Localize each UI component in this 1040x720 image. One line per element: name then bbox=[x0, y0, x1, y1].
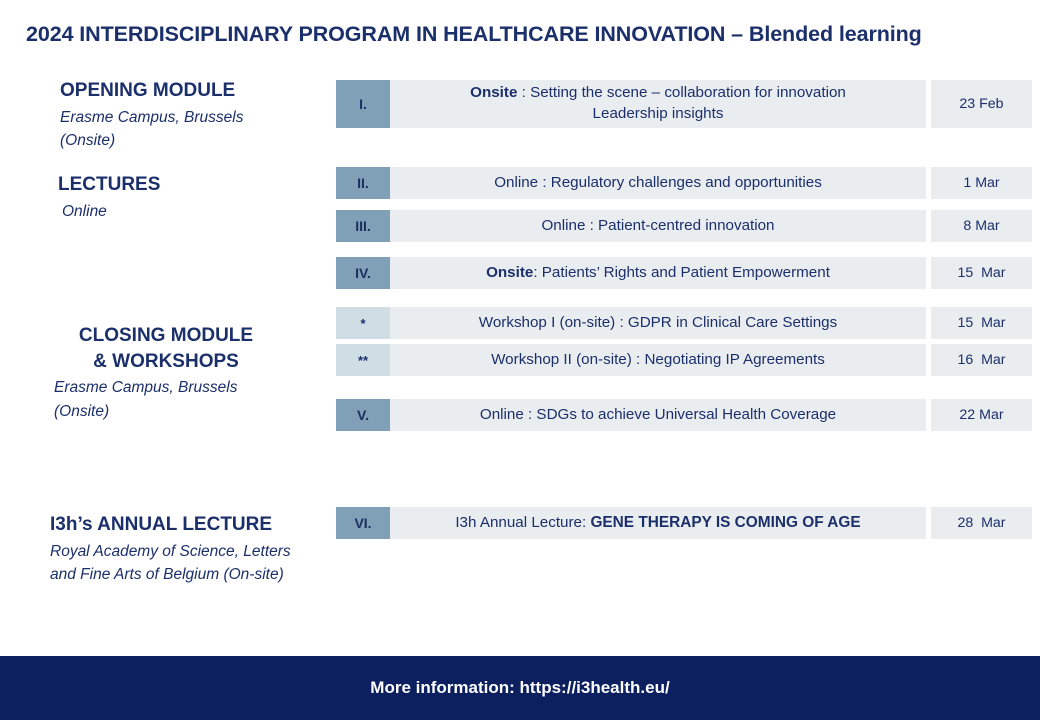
row-number-badge: * bbox=[336, 307, 390, 339]
row-title: Online : Patient-centred innovation bbox=[390, 210, 926, 242]
row-number-badge: V. bbox=[336, 399, 390, 431]
row-date: 1 Mar bbox=[931, 167, 1032, 199]
row-title-text: Online : SDGs to achieve Universal Healt… bbox=[480, 405, 836, 426]
row-title-second-line: Leadership insights bbox=[593, 105, 724, 122]
section-subtitle-line1: Royal Academy of Science, Letters bbox=[50, 540, 350, 563]
row-number-badge: III. bbox=[336, 210, 390, 242]
section-heading: OPENING MODULE bbox=[60, 78, 243, 104]
row-title-text: I3h Annual Lecture: bbox=[455, 514, 590, 531]
row-date: 15 Mar bbox=[931, 307, 1032, 339]
section-heading: LECTURES bbox=[58, 172, 160, 198]
row-date: 8 Mar bbox=[931, 210, 1032, 242]
section-subtitle: Erasme Campus, Brussels (Onsite) bbox=[46, 376, 286, 423]
schedule-row-workshop: * Workshop I (on-site) : GDPR in Clinica… bbox=[336, 307, 1032, 339]
footer-link-text[interactable]: More information: https://i3health.eu/ bbox=[370, 678, 669, 698]
section-heading-line1: CLOSING MODULE bbox=[46, 323, 286, 349]
schedule-row: II. Online : Regulatory challenges and o… bbox=[336, 167, 1032, 199]
row-date: 16 Mar bbox=[931, 344, 1032, 376]
section-heading-line2: & WORKSHOPS bbox=[46, 349, 286, 375]
section-label-annual-lecture: I3h’s ANNUAL LECTURE Royal Academy of Sc… bbox=[50, 512, 350, 586]
section-subtitle-line2: (Onsite) bbox=[60, 129, 243, 152]
section-subtitle: Erasme Campus, Brussels (Onsite) bbox=[60, 106, 243, 153]
row-title: Online : Regulatory challenges and oppor… bbox=[390, 167, 926, 199]
schedule-row-annual-lecture: VI. I3h Annual Lecture: GENE THERAPY IS … bbox=[336, 507, 1032, 539]
row-date: 22 Mar bbox=[931, 399, 1032, 431]
schedule-row: III. Online : Patient-centred innovation… bbox=[336, 210, 1032, 242]
row-number-badge: II. bbox=[336, 167, 390, 199]
schedule-row: V. Online : SDGs to achieve Universal He… bbox=[336, 399, 1032, 431]
section-label-lectures: LECTURES Online bbox=[58, 172, 160, 223]
schedule-row: I. Onsite : Setting the scene – collabor… bbox=[336, 80, 1032, 128]
section-subtitle: Online bbox=[58, 200, 160, 223]
row-title-text: Online : Regulatory challenges and oppor… bbox=[494, 173, 822, 194]
row-number-badge: IV. bbox=[336, 257, 390, 289]
row-title: Onsite : Setting the scene – collaborati… bbox=[390, 80, 926, 128]
row-title: I3h Annual Lecture: GENE THERAPY IS COMI… bbox=[390, 507, 926, 539]
section-heading: I3h’s ANNUAL LECTURE bbox=[50, 512, 350, 538]
schedule-row: IV. Onsite: Patients’ Rights and Patient… bbox=[336, 257, 1032, 289]
row-title-text: Workshop II (on-site) : Negotiating IP A… bbox=[491, 350, 825, 371]
row-title: Online : SDGs to achieve Universal Healt… bbox=[390, 399, 926, 431]
row-title-emphasis: Onsite bbox=[470, 84, 517, 101]
page-title: 2024 INTERDISCIPLINARY PROGRAM IN HEALTH… bbox=[26, 22, 922, 47]
row-number-badge: VI. bbox=[336, 507, 390, 539]
schedule-row-workshop: ** Workshop II (on-site) : Negotiating I… bbox=[336, 344, 1032, 376]
section-label-closing-module-workshops: CLOSING MODULE & WORKSHOPS Erasme Campus… bbox=[46, 323, 286, 423]
section-subtitle-line2: (Onsite) bbox=[54, 400, 286, 423]
row-date: 28 Mar bbox=[931, 507, 1032, 539]
row-title: Workshop II (on-site) : Negotiating IP A… bbox=[390, 344, 926, 376]
section-subtitle-line1: Online bbox=[62, 200, 160, 223]
row-date: 15 Mar bbox=[931, 257, 1032, 289]
row-date: 23 Feb bbox=[931, 80, 1032, 128]
row-number-badge: ** bbox=[336, 344, 390, 376]
row-title-emphasis: GENE THERAPY IS COMING OF AGE bbox=[590, 514, 860, 531]
footer-bar: More information: https://i3health.eu/ bbox=[0, 656, 1040, 720]
row-title-text: : Setting the scene – collaboration for … bbox=[517, 84, 845, 101]
section-subtitle-line1: Erasme Campus, Brussels bbox=[54, 376, 286, 399]
section-subtitle-line1: Erasme Campus, Brussels bbox=[60, 106, 243, 129]
row-title-emphasis: Onsite bbox=[486, 264, 533, 281]
section-label-opening-module: OPENING MODULE Erasme Campus, Brussels (… bbox=[60, 78, 243, 152]
row-number-badge: I. bbox=[336, 80, 390, 128]
row-title: Workshop I (on-site) : GDPR in Clinical … bbox=[390, 307, 926, 339]
row-title-text: Online : Patient-centred innovation bbox=[541, 216, 774, 237]
row-title-text: Workshop I (on-site) : GDPR in Clinical … bbox=[479, 313, 837, 334]
row-title: Onsite: Patients’ Rights and Patient Emp… bbox=[390, 257, 926, 289]
section-heading: CLOSING MODULE & WORKSHOPS bbox=[46, 323, 286, 374]
row-title-text: : Patients’ Rights and Patient Empowerme… bbox=[533, 264, 830, 281]
section-subtitle: Royal Academy of Science, Letters and Fi… bbox=[50, 540, 350, 587]
section-subtitle-line2: and Fine Arts of Belgium (On-site) bbox=[50, 563, 350, 586]
